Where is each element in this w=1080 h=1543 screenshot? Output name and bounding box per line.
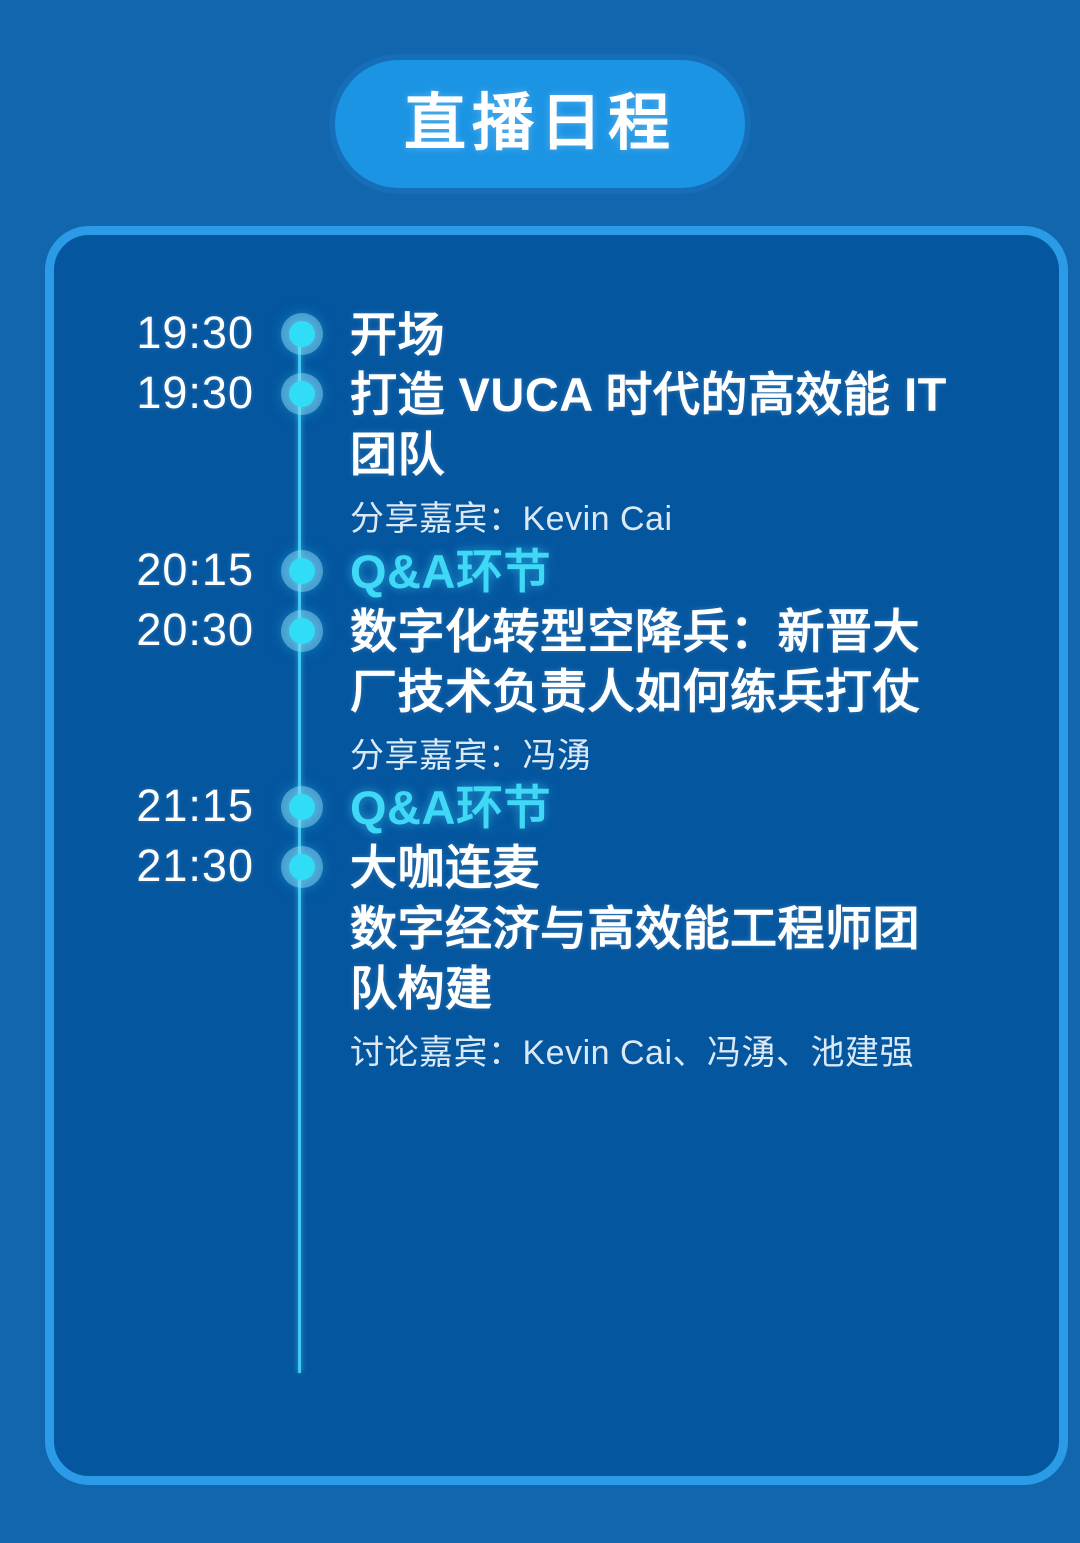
- title-banner: 直播日程: [335, 60, 745, 188]
- row-title: 打造 VUCA 时代的高效能 IT 团队: [350, 365, 1029, 485]
- row-body: 大咖连麦 数字经济与高效能工程师团 队构建 讨论嘉宾：Kevin Cai、冯湧、…: [350, 838, 1059, 1075]
- timeline-dot-wrap: [254, 602, 350, 644]
- timeline-dot-icon: [289, 618, 315, 644]
- row-title: 数字化转型空降兵：新晋大 厂技术负责人如何练兵打仗: [350, 602, 1029, 722]
- row-body: Q&A环节: [350, 542, 1059, 602]
- row-body: 数字化转型空降兵：新晋大 厂技术负责人如何练兵打仗 分享嘉宾：冯湧: [350, 602, 1059, 779]
- schedule-row[interactable]: 20:15 Q&A环节: [54, 542, 1059, 602]
- schedule-row[interactable]: 21:30 大咖连麦 数字经济与高效能工程师团 队构建 讨论嘉宾：Kevin C…: [54, 838, 1059, 1075]
- timeline-dot-wrap: [254, 838, 350, 880]
- schedule-row[interactable]: 21:15 Q&A环节: [54, 778, 1059, 838]
- timeline-dot-icon: [289, 794, 315, 820]
- row-time: 19:30: [54, 365, 254, 421]
- row-body: 开场: [350, 305, 1059, 365]
- timeline-dot-wrap: [254, 365, 350, 407]
- row-time: 20:15: [54, 542, 254, 598]
- timeline-dot-icon: [289, 321, 315, 347]
- timeline-list: 19:30 开场 19:30 打造 VUCA 时代的高效能 IT 团队 分享嘉宾…: [54, 305, 1059, 1075]
- row-time: 21:30: [54, 838, 254, 894]
- timeline-dot-icon: [289, 381, 315, 407]
- schedule-card: 19:30 开场 19:30 打造 VUCA 时代的高效能 IT 团队 分享嘉宾…: [45, 226, 1068, 1485]
- row-time: 21:15: [54, 778, 254, 834]
- row-body: Q&A环节: [350, 778, 1059, 838]
- schedule-row[interactable]: 19:30 开场: [54, 305, 1059, 365]
- timeline-dot-icon: [289, 854, 315, 880]
- row-time: 19:30: [54, 305, 254, 361]
- page-title: 直播日程: [404, 93, 676, 155]
- timeline-dot-icon: [289, 558, 315, 584]
- row-title: 开场: [350, 305, 1029, 365]
- row-speaker: 分享嘉宾：冯湧: [350, 734, 1029, 778]
- schedule-row[interactable]: 19:30 打造 VUCA 时代的高效能 IT 团队 分享嘉宾：Kevin Ca…: [54, 365, 1059, 542]
- row-speaker: 分享嘉宾：Kevin Cai: [350, 497, 1029, 541]
- timeline-dot-wrap: [254, 778, 350, 820]
- row-time: 20:30: [54, 602, 254, 658]
- row-body: 打造 VUCA 时代的高效能 IT 团队 分享嘉宾：Kevin Cai: [350, 365, 1059, 542]
- row-title: Q&A环节: [350, 542, 1029, 602]
- timeline-dot-wrap: [254, 305, 350, 347]
- title-banner-wrap: 直播日程: [0, 60, 1080, 188]
- timeline-dot-wrap: [254, 542, 350, 584]
- row-speaker: 讨论嘉宾：Kevin Cai、冯湧、池建强: [350, 1031, 1029, 1075]
- timeline: 19:30 开场 19:30 打造 VUCA 时代的高效能 IT 团队 分享嘉宾…: [54, 235, 1059, 1476]
- schedule-row[interactable]: 20:30 数字化转型空降兵：新晋大 厂技术负责人如何练兵打仗 分享嘉宾：冯湧: [54, 602, 1059, 779]
- row-title: 大咖连麦 数字经济与高效能工程师团 队构建: [350, 838, 1029, 1018]
- row-title: Q&A环节: [350, 778, 1029, 838]
